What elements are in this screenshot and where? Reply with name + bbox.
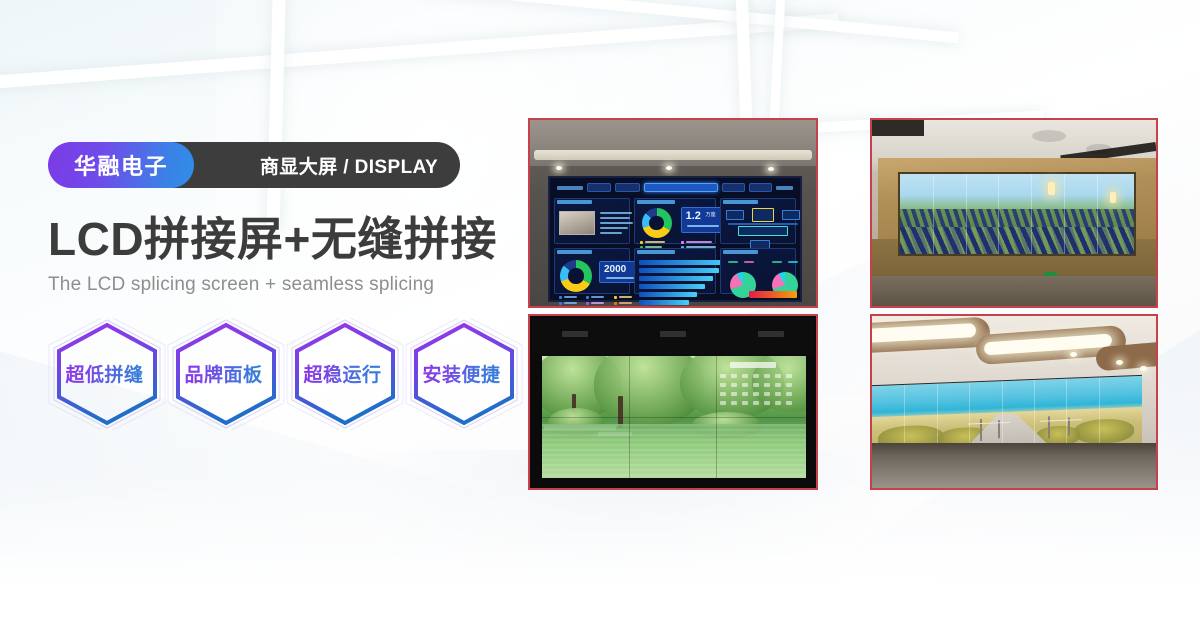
category-badge: 商显大屏 / DISPLAY <box>148 142 460 188</box>
banner-copy-column: 商显大屏 / DISPLAY 华融电子 LCD拼接屏+无缝拼接 The LCD … <box>48 142 518 430</box>
feature-label: 超稳运行 <box>303 360 381 387</box>
display-wall-screen: 1.2 万座 <box>548 176 802 302</box>
calendar-overlay <box>718 362 796 414</box>
photo-solar-farm-video-wall[interactable] <box>870 118 1158 308</box>
feature-hexagon-4: 安装便捷 <box>405 318 518 430</box>
feature-label: 品牌面板 <box>184 360 262 387</box>
brand-badge: 华融电子 <box>48 142 194 188</box>
display-wall-screen <box>898 172 1136 256</box>
display-wall-screen <box>542 356 806 478</box>
photo-beach-boardwalk-video-wall[interactable] <box>870 314 1158 490</box>
photo-dashboard-video-wall[interactable]: 1.2 万座 <box>528 118 818 308</box>
dashboard-secondary-value: 2000 <box>604 265 626 275</box>
dashboard-highlight-unit: 万座 <box>706 213 716 218</box>
background-bottom-fade <box>0 470 1200 640</box>
photo-willow-lake-video-wall[interactable] <box>528 314 818 490</box>
feature-hexagon-2: 品牌面板 <box>167 318 280 430</box>
dashboard-highlight-value: 1.2 <box>686 211 701 222</box>
page-title: LCD拼接屏+无缝拼接 <box>48 214 518 266</box>
feature-label: 超低拼缝 <box>65 360 143 387</box>
feature-hexagon-1: 超低拼缝 <box>48 318 161 430</box>
badge-row: 商显大屏 / DISPLAY 华融电子 <box>48 142 518 188</box>
page-subtitle: The LCD splicing screen + seamless splic… <box>48 274 518 296</box>
feature-label: 安装便捷 <box>422 360 500 387</box>
feature-hexagon-3: 超稳运行 <box>286 318 399 430</box>
feature-hexagon-list: 超低拼缝 品牌面板 超稳运行 安装便捷 <box>48 318 518 430</box>
